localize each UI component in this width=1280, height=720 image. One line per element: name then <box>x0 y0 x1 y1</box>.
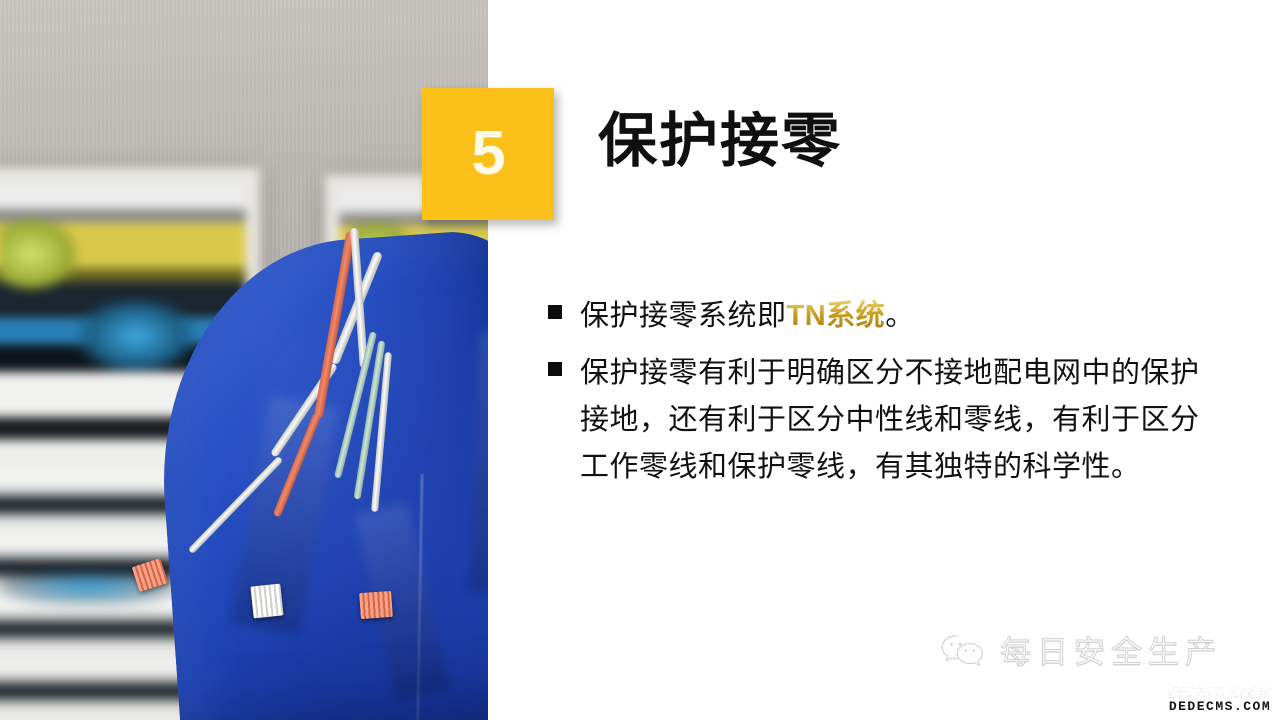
photo-connector-orange-2 <box>359 591 393 619</box>
photo-connector-white-1 <box>250 584 283 619</box>
dedecms-watermark: 织梦内容管理系统 DEDECMS.COM <box>1168 687 1272 714</box>
bullet-text-highlight: TN系统 <box>787 300 886 332</box>
wechat-icon <box>940 633 986 667</box>
dedecms-watermark-en: DEDECMS.COM <box>1168 700 1272 714</box>
slide-root: 5 保护接零 保护接零系统即TN系统。 保护接零有利于明确区分不接地配电网中的保… <box>0 0 1280 720</box>
section-number-badge: 5 <box>422 88 554 220</box>
bullet-square-icon <box>548 362 562 376</box>
dedecms-watermark-cn: 织梦内容管理系统 <box>1168 687 1272 701</box>
footer-account-name: 每日安全生产 <box>1000 627 1222 672</box>
slide-title: 保护接零 <box>598 108 842 176</box>
bullet-square-icon <box>548 305 562 319</box>
footer-watermark: 每日安全生产 <box>940 627 1222 672</box>
section-number-value: 5 <box>471 123 504 185</box>
bullet-text: 保护接零有利于明确区分不接地配电网中的保护接地，还有利于区分中性线和零线，有利于… <box>580 350 1218 491</box>
bullet-text: 保护接零系统即TN系统。 <box>580 293 1218 340</box>
bullet-item: 保护接零系统即TN系统。 <box>548 293 1218 340</box>
photo-electrician <box>0 0 488 720</box>
bullet-item: 保护接零有利于明确区分不接地配电网中的保护接地，还有利于区分中性线和零线，有利于… <box>548 350 1218 491</box>
bullet-text-segment: 保护接零有利于明确区分不接地配电网中的保护接地，还有利于区分中性线和零线，有利于… <box>580 357 1200 483</box>
bullet-text-segment: 保护接零系统即 <box>580 300 787 332</box>
bullet-list: 保护接零系统即TN系统。 保护接零有利于明确区分不接地配电网中的保护接地，还有利… <box>548 293 1218 501</box>
photo-uniform-fold <box>467 332 488 595</box>
bullet-text-segment: 。 <box>885 300 915 332</box>
